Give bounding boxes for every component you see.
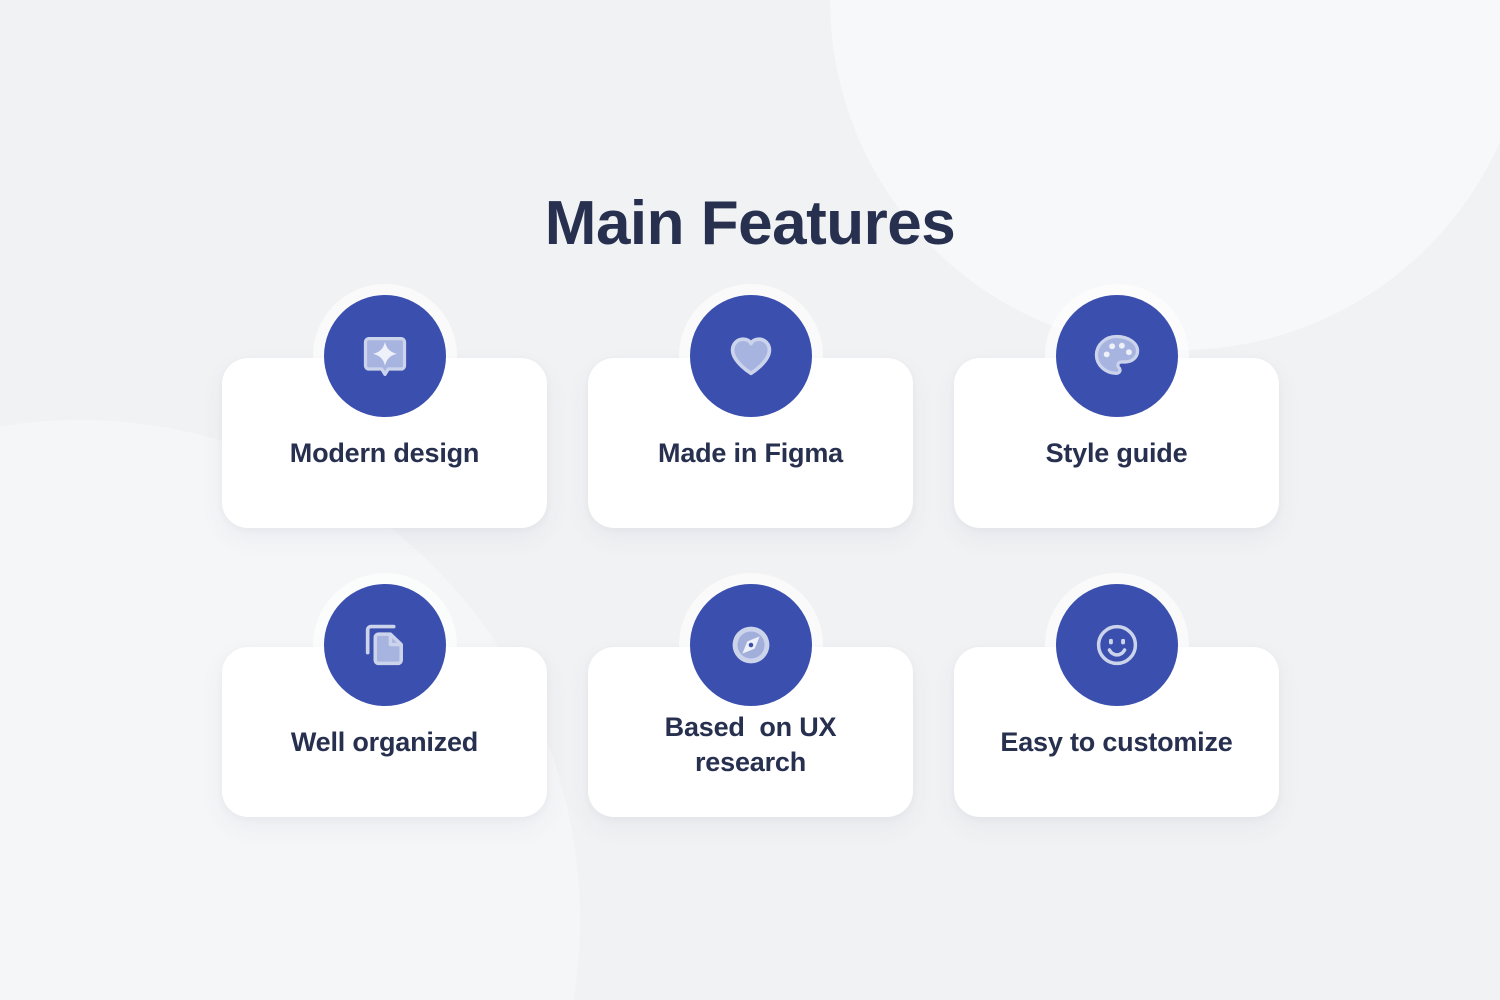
icon-badge <box>690 295 812 417</box>
feature-label: Well organized <box>245 725 525 761</box>
background-circle-top-right <box>830 0 1500 350</box>
features-page: Main Features Modern design <box>0 0 1500 1000</box>
feature-card-based-on-ux-research[interactable]: Based on UX research <box>588 647 913 817</box>
feature-card-well-organized[interactable]: Well organized <box>222 647 547 817</box>
feature-card-style-guide[interactable]: Style guide <box>954 358 1279 528</box>
feature-card-made-in-figma[interactable]: Made in Figma <box>588 358 913 528</box>
icon-badge <box>1056 295 1178 417</box>
heart-icon <box>725 330 777 382</box>
feature-card-modern-design[interactable]: Modern design <box>222 358 547 528</box>
feature-label: Modern design <box>245 436 525 472</box>
icon-badge <box>324 584 446 706</box>
sparkle-bubble-icon <box>359 330 411 382</box>
icon-badge <box>1056 584 1178 706</box>
copy-documents-icon <box>359 619 411 671</box>
features-grid: Modern design Made in Figma <box>222 358 1278 817</box>
feature-card-easy-to-customize[interactable]: Easy to customize <box>954 647 1279 817</box>
palette-icon <box>1091 330 1143 382</box>
compass-icon <box>725 619 777 671</box>
smiley-face-icon <box>1091 619 1143 671</box>
feature-label: Easy to customize <box>977 725 1257 761</box>
feature-label: Style guide <box>977 436 1257 472</box>
icon-badge <box>324 295 446 417</box>
icon-badge <box>690 584 812 706</box>
feature-label: Based on UX research <box>611 710 891 781</box>
feature-label: Made in Figma <box>611 436 891 472</box>
page-title: Main Features <box>0 190 1500 258</box>
